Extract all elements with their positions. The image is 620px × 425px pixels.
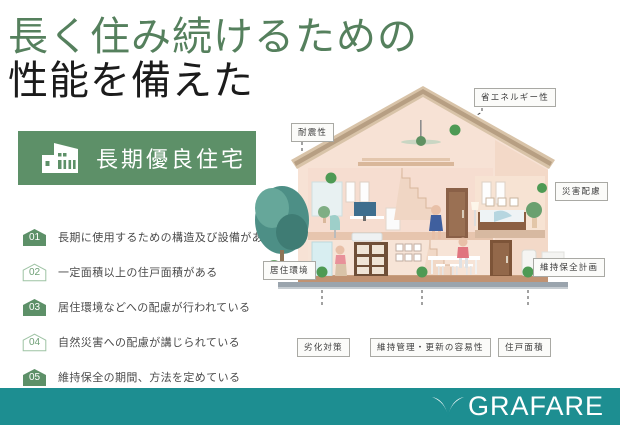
criteria-number-badge: 02 bbox=[22, 263, 47, 282]
criteria-number: 01 bbox=[22, 228, 47, 247]
brand-logo: GRAFARE bbox=[431, 391, 604, 422]
footer-brand-bar: GRAFARE bbox=[0, 388, 620, 425]
criteria-text: 維持保全の期間、方法を定めている bbox=[58, 369, 240, 385]
list-item: 04 自然災害への配慮が講じられている bbox=[22, 331, 272, 353]
callout-maintenance-plan: 維持保全計画 bbox=[533, 258, 605, 277]
marker-dot bbox=[417, 267, 428, 278]
list-item: 03 居住環境などへの配慮が行われている bbox=[22, 296, 272, 318]
criteria-text: 自然災害への配慮が講じられている bbox=[58, 334, 240, 350]
callout-earthquake: 耐震性 bbox=[291, 123, 334, 142]
callout-floor-area: 住戸面積 bbox=[498, 338, 551, 357]
criteria-number: 02 bbox=[22, 263, 47, 282]
ground-line bbox=[278, 282, 568, 287]
certification-badge-bar: 長期優良住宅 bbox=[18, 131, 256, 185]
callout-energy-saving: 省エネルギー性 bbox=[474, 88, 556, 107]
criteria-number-badge: 04 bbox=[22, 333, 47, 352]
criteria-number-badge: 01 bbox=[22, 228, 47, 247]
criteria-text: 一定面積以上の住戸面積がある bbox=[58, 264, 218, 280]
callout-deterioration: 劣化対策 bbox=[297, 338, 350, 357]
criteria-number-badge: 05 bbox=[22, 368, 47, 387]
callout-upkeep-renewal: 維持管理・更新の容易性 bbox=[370, 338, 491, 357]
building-icon bbox=[38, 139, 86, 177]
criteria-number: 04 bbox=[22, 333, 47, 352]
list-item: 02 一定面積以上の住戸面積がある bbox=[22, 261, 272, 283]
criteria-number-badge: 03 bbox=[22, 298, 47, 317]
certification-badge-label: 長期優良住宅 bbox=[96, 142, 246, 174]
criteria-list: 01 長期に使用するための構造及び設備がある 02 一定面積以上の住戸面積がある… bbox=[22, 226, 272, 401]
criteria-number: 05 bbox=[22, 368, 47, 387]
criteria-text: 居住環境などへの配慮が行われている bbox=[58, 299, 250, 315]
callout-living-env: 居住環境 bbox=[263, 261, 316, 280]
marker-dot bbox=[326, 173, 337, 184]
leaf-logo-icon bbox=[431, 394, 465, 420]
marker-dot bbox=[317, 267, 328, 278]
criteria-number: 03 bbox=[22, 298, 47, 317]
marker-dot bbox=[523, 267, 534, 278]
headline-line-1: 長く住み続けるための bbox=[8, 14, 448, 60]
criteria-text: 長期に使用するための構造及び設備がある bbox=[58, 229, 275, 245]
brand-name: GRAFARE bbox=[468, 391, 604, 422]
list-item: 01 長期に使用するための構造及び設備がある bbox=[22, 226, 272, 248]
marker-dot bbox=[450, 125, 461, 136]
marker-dot bbox=[537, 183, 547, 193]
house-cutaway-illustration bbox=[250, 70, 620, 370]
house-structure bbox=[291, 86, 564, 282]
list-item: 05 維持保全の期間、方法を定めている bbox=[22, 366, 272, 388]
callout-disaster: 災害配慮 bbox=[555, 182, 608, 201]
poster-canvas: 長く住み続けるための 性能を備えた 長期優良住宅 01 bbox=[0, 0, 620, 425]
